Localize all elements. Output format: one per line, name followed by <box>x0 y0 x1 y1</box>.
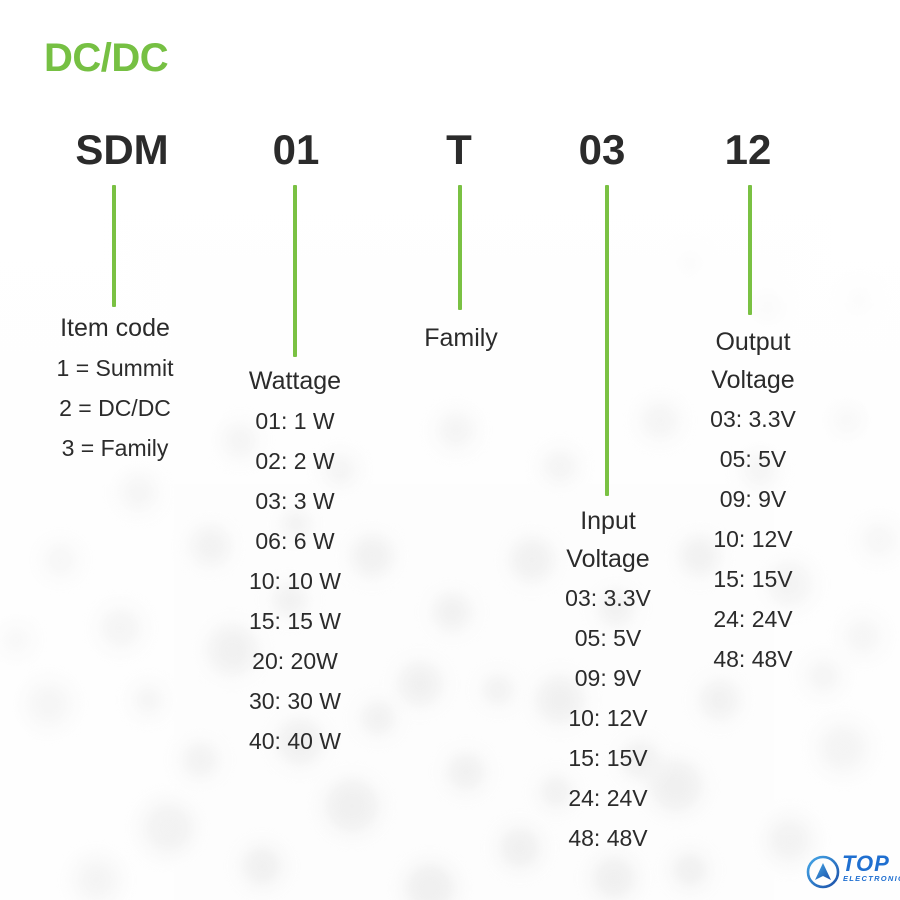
option-output-voltage: 15: 15V <box>710 559 796 599</box>
diagram-content: DC/DC SDM01T0312 Item code1 = Summit2 = … <box>0 0 900 900</box>
part-code-segment-5: 12 <box>725 128 772 172</box>
connector-wattage <box>293 185 297 357</box>
circle-arrow-icon <box>806 855 840 889</box>
option-output-voltage: 24: 24V <box>710 599 796 639</box>
heading-wattage: Wattage <box>249 363 341 401</box>
option-output-voltage: 03: 3.3V <box>710 399 796 439</box>
heading-item-code: Item code <box>57 310 174 348</box>
description-item-code: Item code1 = Summit2 = DC/DC3 = Family <box>57 310 174 468</box>
option-wattage: 20: 20W <box>249 641 341 681</box>
connector-output-voltage <box>748 185 752 315</box>
option-wattage: 06: 6 W <box>249 521 341 561</box>
connector-family <box>458 185 462 310</box>
option-item-code: 2 = DC/DC <box>57 388 174 428</box>
option-output-voltage: 48: 48V <box>710 639 796 679</box>
option-input-voltage: 15: 15V <box>565 738 651 778</box>
connector-input-voltage <box>605 185 609 496</box>
option-input-voltage: 10: 12V <box>565 698 651 738</box>
page-title: DC/DC <box>44 38 168 78</box>
option-wattage: 15: 15 W <box>249 601 341 641</box>
option-wattage: 02: 2 W <box>249 441 341 481</box>
option-output-voltage: 05: 5V <box>710 439 796 479</box>
product-code-diagram: DC/DC SDM01T0312 Item code1 = Summit2 = … <box>0 0 900 900</box>
option-wattage: 30: 30 W <box>249 681 341 721</box>
option-input-voltage: 03: 3.3V <box>565 578 651 618</box>
option-input-voltage: 05: 5V <box>565 618 651 658</box>
option-wattage: 10: 10 W <box>249 561 341 601</box>
option-wattage: 03: 3 W <box>249 481 341 521</box>
part-code-segment-2: 01 <box>273 128 320 172</box>
top-electronics-logo: TOP ELECTRONICS <box>806 851 894 893</box>
description-input-voltage: InputVoltage03: 3.3V05: 5V09: 9V10: 12V1… <box>565 503 651 858</box>
logo-wordmark: TOP <box>842 853 890 875</box>
option-input-voltage: 09: 9V <box>565 658 651 698</box>
heading-input-voltage: Voltage <box>565 541 651 579</box>
heading-family: Family <box>424 320 498 358</box>
option-input-voltage: 24: 24V <box>565 778 651 818</box>
option-output-voltage: 10: 12V <box>710 519 796 559</box>
option-wattage: 40: 40 W <box>249 721 341 761</box>
heading-output-voltage: Output <box>710 324 796 362</box>
description-wattage: Wattage01: 1 W02: 2 W03: 3 W06: 6 W10: 1… <box>249 363 341 761</box>
part-code-segment-3: T <box>446 128 472 172</box>
part-code-segment-4: 03 <box>579 128 626 172</box>
heading-input-voltage: Input <box>565 503 651 541</box>
option-wattage: 01: 1 W <box>249 401 341 441</box>
description-family: Family <box>424 320 498 358</box>
option-input-voltage: 48: 48V <box>565 818 651 858</box>
description-output-voltage: OutputVoltage03: 3.3V05: 5V09: 9V10: 12V… <box>710 324 796 679</box>
connector-item-code <box>112 185 116 307</box>
option-item-code: 1 = Summit <box>57 348 174 388</box>
logo-subtitle: ELECTRONICS <box>843 875 900 883</box>
option-output-voltage: 09: 9V <box>710 479 796 519</box>
heading-output-voltage: Voltage <box>710 362 796 400</box>
part-code-segment-1: SDM <box>75 128 168 172</box>
option-item-code: 3 = Family <box>57 428 174 468</box>
